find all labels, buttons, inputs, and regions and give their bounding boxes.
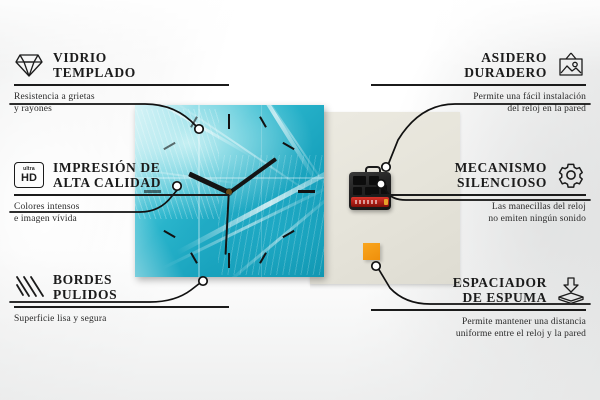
feature-bordes-pulidos: BORDES PULIDOS Superficie lisa y segura (14, 272, 229, 325)
feature-title-line1: ESPACIADOR (453, 275, 547, 290)
leader-dot-vidrio-templado (195, 125, 203, 133)
feature-divider (371, 309, 586, 311)
feature-desc-line1: Resistencia a grietas (14, 91, 229, 103)
feature-title-line1: BORDES (53, 272, 117, 287)
feature-divider (14, 84, 229, 86)
leader-dot-espaciador (372, 262, 380, 270)
feature-asidero-duradero: ASIDERO DURADERO Permite una fácil insta… (371, 50, 586, 115)
feature-title-line2: PULIDOS (53, 287, 117, 302)
feature-divider (14, 194, 229, 196)
hanging-picture-icon (556, 52, 586, 78)
feature-mecanismo-silencioso: MECANISMO SILENCIOSO Las manecillas del … (371, 160, 586, 225)
feature-desc-line1: Superficie lisa y segura (14, 313, 229, 325)
infographic-canvas: VIDRIO TEMPLADO Resistencia a grietas y … (0, 0, 600, 400)
feature-title-line2: SILENCIOSO (455, 175, 547, 190)
feature-title-line2: DURADERO (464, 65, 547, 80)
feature-title-line2: DE ESPUMA (453, 290, 547, 305)
ultra-hd-icon: ultra HD (14, 162, 44, 188)
feature-impresion-alta-calidad: ultra HD IMPRESIÓN DE ALTA CALIDAD Color… (14, 160, 229, 225)
ultra-hd-icon-main-text: HD (21, 173, 37, 184)
foam-spacer-icon (556, 277, 586, 303)
ultra-hd-icon-top-text: ultra (23, 167, 35, 172)
feature-title-line2: ALTA CALIDAD (53, 175, 161, 190)
feature-title-line1: IMPRESIÓN DE (53, 160, 161, 175)
feature-divider (14, 306, 229, 308)
feature-espaciador-de-espuma: ESPACIADOR DE ESPUMA Permite mantener un… (371, 275, 586, 340)
feature-divider (371, 194, 586, 196)
gear-icon (556, 162, 586, 188)
feature-desc-line2: no emiten ningún sonido (371, 213, 586, 225)
feature-desc-line1: Colores intensos (14, 201, 229, 213)
feature-desc-line2: e imagen vívida (14, 213, 229, 225)
feature-desc-line2: del reloj en la pared (371, 103, 586, 115)
feature-title-line1: ASIDERO (464, 50, 547, 65)
feature-vidrio-templado: VIDRIO TEMPLADO Resistencia a grietas y … (14, 50, 229, 115)
feature-divider (371, 84, 586, 86)
feature-desc-line2: uniforme entre el reloj y la pared (371, 328, 586, 340)
feature-desc-line1: Permite mantener una distancia (371, 316, 586, 328)
polished-edges-icon (14, 274, 44, 300)
feature-title-line1: VIDRIO (53, 50, 136, 65)
feature-title-line1: MECANISMO (455, 160, 547, 175)
feature-desc-line1: Las manecillas del reloj (371, 201, 586, 213)
feature-title-line2: TEMPLADO (53, 65, 136, 80)
diamond-icon (14, 52, 44, 78)
feature-desc-line1: Permite una fácil instalación (371, 91, 586, 103)
feature-desc-line2: y rayones (14, 103, 229, 115)
